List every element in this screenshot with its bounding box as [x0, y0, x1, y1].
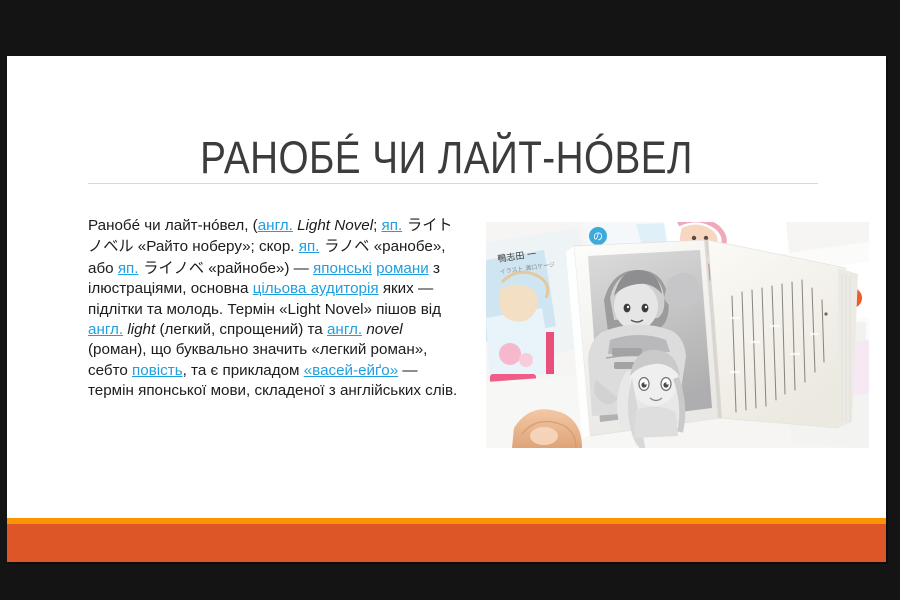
text-run: ;: [373, 217, 381, 234]
text-run: «райнобе») —: [204, 260, 313, 277]
light-novel-photo: 鴨志田 一 イラスト 溝口ケージ の: [486, 222, 869, 448]
link-tsilova-audytoriia[interactable]: цільова аудиторія: [253, 280, 379, 297]
title-divider: [88, 183, 818, 184]
link-vasei-eigo[interactable]: «васей-ейґо»: [304, 362, 398, 379]
text-run: (легкий, спрощений) та: [155, 321, 327, 338]
svg-text:の: の: [593, 232, 603, 243]
link-romany[interactable]: романи: [376, 260, 429, 277]
text-run-japanese-3: ライノベ: [138, 259, 204, 277]
italic-light-novel: Light Novel: [297, 217, 373, 234]
link-anhl-2[interactable]: англ.: [88, 321, 123, 338]
slide-canvas: РАНОБÉ ЧИ ЛАЙТ-НÓВЕЛ Ранобé чи лайт-нóве…: [7, 56, 886, 562]
link-yap-1[interactable]: яп.: [382, 217, 403, 234]
link-yap-2[interactable]: яп.: [299, 238, 320, 255]
light-novel-photo-graphic: 鴨志田 一 イラスト 溝口ケージ の: [486, 222, 869, 448]
link-yaponski[interactable]: японські: [313, 260, 372, 277]
link-anhl-3[interactable]: англ.: [327, 321, 362, 338]
link-yap-3[interactable]: яп.: [118, 260, 139, 277]
text-run: Ранобé чи лайт-нóвел, (: [88, 217, 258, 234]
text-run: «Райто ноберу»; скор.: [134, 238, 299, 255]
text-run: , та є прикладом: [183, 362, 304, 379]
slide-body-text: Ранобé чи лайт-нóвел, (англ. Light Novel…: [88, 215, 463, 402]
presentation-viewer: РАНОБÉ ЧИ ЛАЙТ-НÓВЕЛ Ранобé чи лайт-нóве…: [0, 0, 900, 600]
text-run-japanese-2: ラノベ: [319, 237, 369, 255]
italic-novel: novel: [366, 321, 402, 338]
link-anhl-1[interactable]: англ.: [258, 217, 293, 234]
accent-bar-deep: [7, 524, 886, 562]
slide-title: РАНОБÉ ЧИ ЛАЙТ-НÓВЕЛ: [69, 132, 825, 184]
link-povist[interactable]: повість: [132, 362, 183, 379]
italic-light: light: [127, 321, 155, 338]
